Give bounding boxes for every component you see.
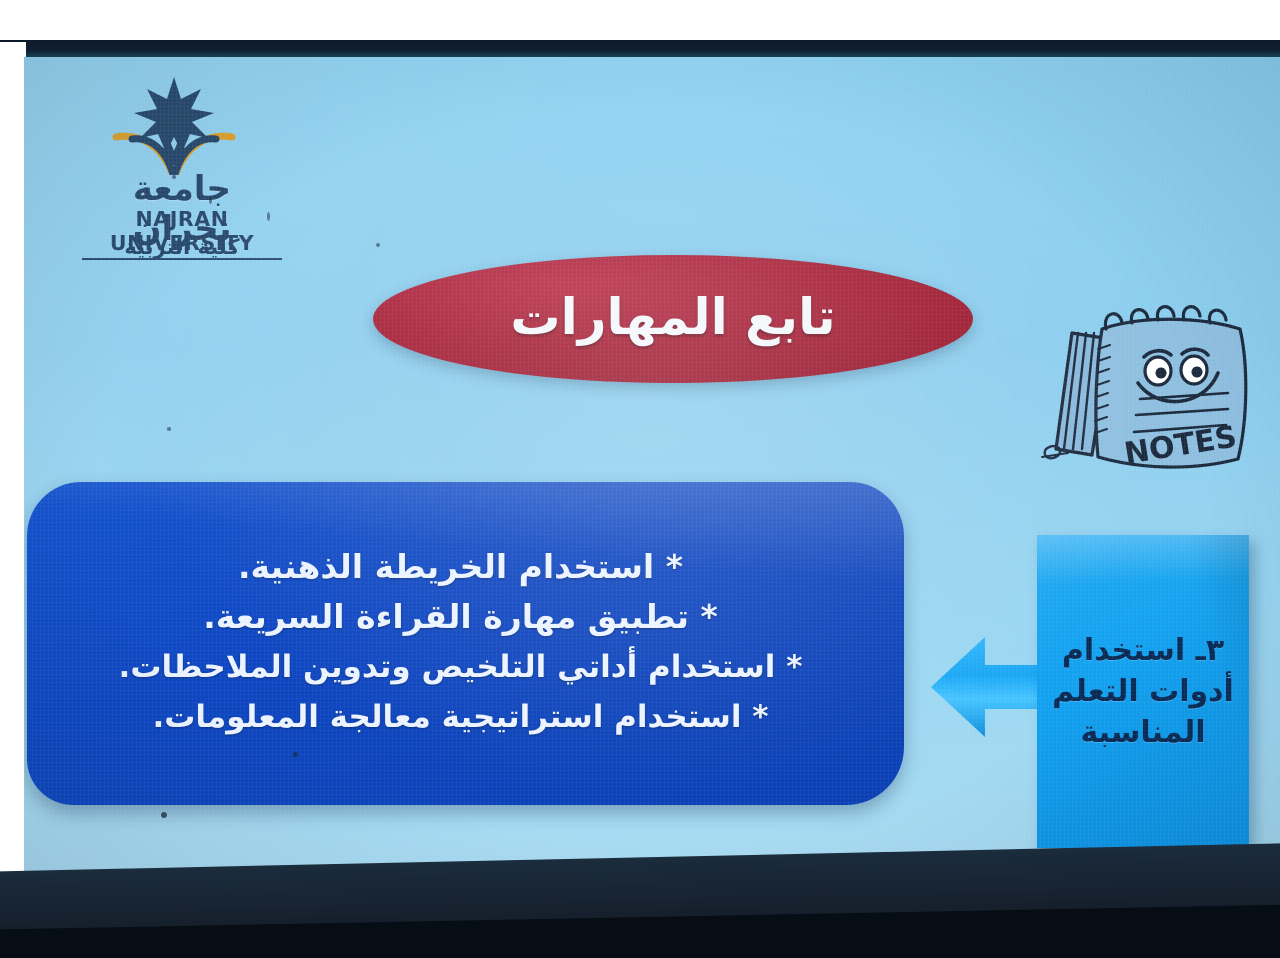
photo-left-white-border (0, 42, 26, 922)
slide-title-oval: تابع المهارات (373, 255, 973, 383)
dust-speck (172, 175, 176, 179)
bullet-item: * استخدام الخريطة الذهنية. (53, 542, 868, 592)
section-heading-text: ٣ـ استخدام أدوات التعلم المناسبة (1045, 630, 1241, 753)
dust-speck (167, 427, 171, 431)
najran-university-star-emblem (104, 75, 244, 175)
dust-speck (209, 197, 212, 204)
photo-top-white-border (0, 0, 1280, 42)
notes-notepad-cartoon-icon: NOTES (1032, 299, 1280, 479)
presentation-slide: جامعة نجران NAJRAN UNIVERSITY كلية الترب… (24, 57, 1280, 887)
dust-speck (161, 812, 167, 818)
dust-speck (376, 243, 380, 247)
dust-speck (293, 752, 298, 757)
page-title: تابع المهارات (510, 288, 835, 346)
bullet-item: * استخدام أداتي التلخيص وتدوين الملاحظات… (53, 642, 868, 692)
logo-faculty-name: كلية التربية (82, 235, 282, 259)
projector-photo: جامعة نجران NAJRAN UNIVERSITY كلية الترب… (0, 0, 1280, 958)
skills-content-box: * استخدام الخريطة الذهنية. * تطبيق مهارة… (27, 482, 904, 805)
university-logo: جامعة نجران NAJRAN UNIVERSITY كلية الترب… (82, 75, 302, 260)
bullet-item: * تطبيق مهارة القراءة السريعة. (53, 592, 868, 642)
bullet-item: * استخدام استراتيجية معالجة المعلومات. (53, 692, 868, 742)
section-heading-box: ٣ـ استخدام أدوات التعلم المناسبة (1037, 535, 1249, 848)
dust-speck (267, 212, 270, 221)
